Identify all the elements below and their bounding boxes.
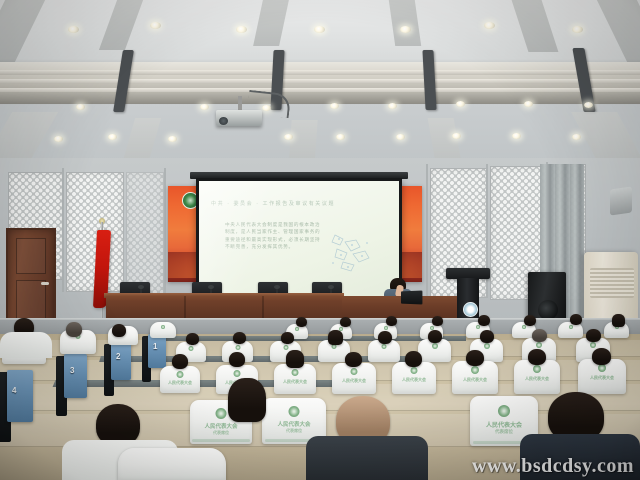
recessed-downlight: [584, 102, 593, 108]
chair-cover-emblem-icon: [498, 405, 510, 417]
chair-cover-emblem-icon: [295, 327, 299, 331]
acoustic-panel: [126, 172, 164, 294]
door-handle-icon[interactable]: [41, 282, 49, 285]
door-panel: [16, 238, 46, 274]
recessed-downlight: [572, 26, 583, 33]
chair-cover-emblem-icon: [411, 367, 418, 374]
chair-cover-emblem-icon: [382, 344, 387, 349]
recessed-downlight: [108, 134, 117, 140]
chair-cover-emblem-icon: [536, 342, 542, 348]
audience-head: [112, 324, 126, 337]
ceiling-rib: [99, 0, 143, 50]
recessed-downlight: [284, 134, 293, 140]
audience-head: [480, 330, 494, 343]
recessed-downlight: [456, 101, 465, 107]
ceiling-pipe: [0, 79, 640, 84]
chair-cover-emblem-icon: [283, 345, 288, 350]
chair-cover-emblem-icon: [522, 325, 526, 329]
recessed-downlight: [400, 26, 411, 33]
audience-head: [281, 332, 294, 344]
wall-speaker: [610, 186, 632, 215]
audience-head: [378, 331, 392, 344]
recessed-downlight: [512, 133, 521, 139]
audience-head: [386, 316, 397, 326]
chair-cover-subtext: 代表席位: [213, 430, 229, 436]
chair-cover: 人民代表大会: [332, 363, 376, 394]
recessed-downlight: [452, 133, 461, 139]
recessed-downlight: [336, 134, 345, 140]
ceiling: [0, 0, 640, 168]
chair-cover-emblem-icon: [432, 343, 438, 349]
ceiling-rib: [597, 0, 640, 62]
audience-head: [66, 322, 82, 337]
audience-head: [233, 332, 246, 344]
chair-cover-emblem-icon: [177, 371, 184, 378]
seat-number: 1: [153, 342, 157, 351]
chair-cover-emblem-icon: [533, 365, 541, 373]
recessed-downlight: [484, 22, 495, 29]
recessed-downlight: [76, 104, 85, 110]
wall-seam: [426, 164, 428, 296]
chair-cover-emblem-icon: [590, 342, 596, 348]
projector-lens-icon: [219, 117, 228, 125]
audience-head: [286, 350, 304, 368]
chair-cover-text: 人民代表大会: [486, 420, 522, 429]
audience-head: [428, 330, 442, 343]
chair-cover-text: 人民代表大会: [204, 422, 237, 430]
chair-cover-text: 人民代表大会: [463, 377, 487, 383]
chair-cover-text: 人民代表大会: [277, 420, 310, 428]
slide-heading: 中共 · 委员会 · 工作报告及审议有关议题: [211, 199, 387, 207]
audience-head: [229, 352, 245, 367]
audience-head: [340, 317, 351, 327]
chair-cover-emblem-icon: [569, 325, 573, 329]
projection-screen: 中共 · 委员会 · 工作报告及审议有关议题 中央人民代表大会制度是我国的根本政…: [199, 181, 399, 301]
recessed-downlight: [396, 134, 405, 140]
wall-seam: [62, 168, 64, 292]
audience-head: [570, 314, 582, 325]
audience-head: [405, 351, 422, 367]
chair-cover-emblem-icon: [598, 364, 606, 372]
recessed-downlight: [524, 101, 533, 107]
seat[interactable]: [148, 334, 166, 368]
ceiling-hanger-bracket: [422, 50, 436, 110]
chair-cover-emblem-icon: [161, 325, 165, 329]
chair-cover-emblem-icon: [484, 343, 490, 349]
recessed-downlight: [168, 136, 177, 142]
chair-cover-emblem-icon: [289, 406, 300, 417]
seat[interactable]: [111, 342, 131, 380]
chair-cover: 人民代表大会: [160, 366, 200, 393]
chair-cover-text: 人民代表大会: [402, 377, 426, 383]
audience-head: [592, 348, 611, 365]
audience-head: [586, 329, 601, 342]
seat-number: 4: [12, 386, 16, 395]
chair-cover: 人民代表大会: [514, 360, 560, 394]
chair-cover-subtext: 代表席位: [286, 428, 302, 434]
recessed-downlight: [314, 26, 325, 33]
lectern-emblem-icon: [463, 302, 478, 317]
recessed-downlight: [68, 26, 79, 33]
seat-number: 2: [116, 352, 120, 361]
chair-cover-emblem-icon: [351, 368, 358, 375]
chair-cover-text: 人民代表大会: [168, 380, 192, 386]
audience-head: [532, 329, 547, 342]
audience-head: [612, 314, 625, 327]
recessed-downlight: [200, 104, 209, 110]
conference-hall-photo: 第四 大会 中共 · 委员会 · 工作报告及审议有关议题 中央人民代表大会制度是…: [0, 0, 640, 480]
chair-cover-emblem-icon: [476, 325, 480, 329]
ceiling-rib: [0, 0, 45, 62]
slide-map-graphic-icon: [323, 229, 383, 275]
chair-cover-emblem-icon: [216, 408, 227, 419]
audience-head: [524, 315, 536, 326]
audience-head: [328, 330, 343, 345]
projection-screen-frame: 中共 · 委员会 · 工作报告及审议有关议题 中央人民代表大会制度是我国的根本政…: [196, 178, 402, 304]
audience-head: [172, 354, 188, 369]
chair-cover-emblem-icon: [471, 366, 479, 374]
chair-cover-emblem-icon: [234, 370, 241, 377]
recessed-downlight: [150, 22, 161, 29]
chair-cover-text: 人民代表大会: [590, 375, 614, 381]
presenter-laptop[interactable]: [401, 291, 422, 305]
ceiling-rib: [512, 0, 559, 52]
chair-cover-emblem-icon: [189, 346, 194, 351]
seat-number: 3: [70, 366, 74, 375]
ceiling-pipe: [0, 70, 640, 75]
chair-cover-subtext: 代表席位: [495, 429, 513, 435]
recessed-downlight: [572, 134, 581, 140]
audience-head: [478, 315, 490, 326]
audience-head: [228, 378, 266, 422]
chair-cover-emblem-icon: [384, 326, 388, 330]
slide-body-line: 中央人民代表大会制度是我国的根本政治: [225, 221, 341, 228]
chair-cover: [150, 322, 176, 338]
pa-speaker-cone-icon: [538, 300, 558, 320]
audience-head: [528, 349, 546, 365]
door-panel: [16, 280, 46, 322]
chair-cover: [118, 448, 226, 480]
audience-head: [466, 350, 484, 366]
audience-shoulders: [0, 332, 52, 358]
ceiling-track-shadow: [0, 92, 640, 104]
chair-cover-emblem-icon: [292, 369, 299, 376]
audience-head: [296, 317, 307, 327]
side-door[interactable]: [6, 228, 56, 326]
audience-head: [432, 316, 443, 326]
ceiling-rib: [253, 0, 289, 46]
ceiling-rib: [389, 0, 421, 46]
recessed-downlight: [54, 136, 63, 142]
chair-cover-text: 人民代表大会: [525, 376, 549, 382]
audience-head: [186, 333, 199, 345]
chair-cover: 人民代表大会: [274, 364, 316, 394]
chair-cover-text: 人民代表大会: [342, 378, 366, 384]
recessed-downlight: [236, 26, 247, 33]
recessed-downlight: [388, 103, 397, 109]
audience-shoulders: [306, 436, 428, 480]
wall-seam: [164, 168, 166, 294]
seat[interactable]: [64, 354, 87, 398]
chair-cover-text: 人民代表大会: [283, 379, 307, 385]
chair-cover-emblem-icon: [235, 345, 240, 350]
air-conditioner-grille: [590, 268, 634, 298]
recessed-downlight: [330, 103, 339, 109]
audience-head: [345, 352, 362, 367]
watermark: www.bsdcdsy.com: [472, 455, 634, 478]
seat[interactable]: [7, 370, 33, 422]
chair-cover-hem: [192, 439, 249, 442]
